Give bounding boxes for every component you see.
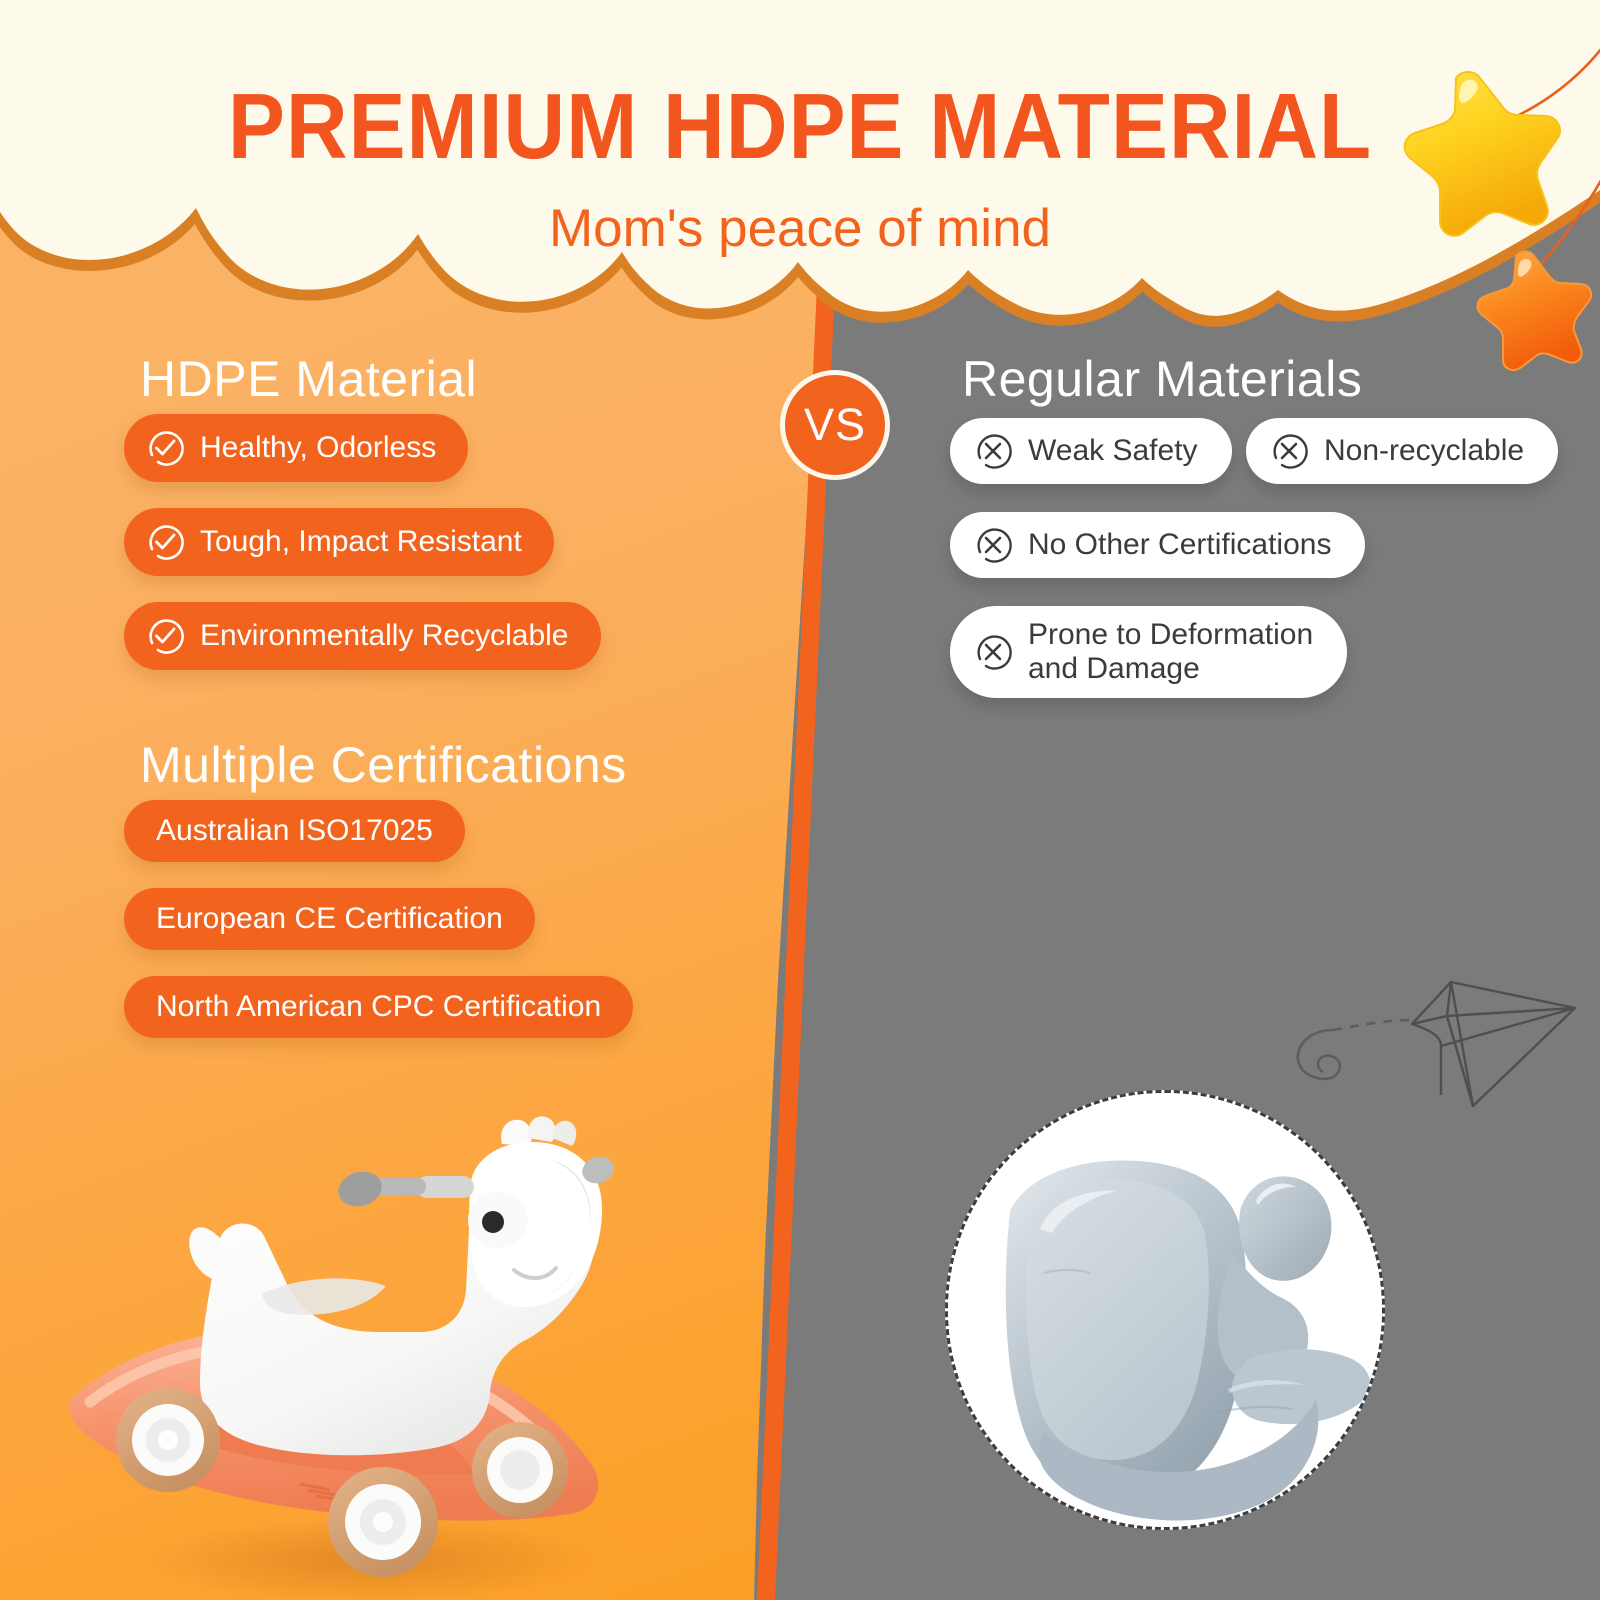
check-circle-icon [144, 521, 186, 563]
wheel-rear-left [328, 1467, 438, 1577]
drawback-label: Prone to Deformation and Damage [1028, 618, 1313, 686]
infographic-canvas: PREMIUM HDPE MATERIAL Mom's peace of min… [0, 0, 1600, 1600]
drawback-label: Weak Safety [1028, 434, 1198, 468]
x-circle-icon [972, 524, 1014, 566]
hanging-stars-decoration [1380, 40, 1600, 380]
vs-badge: VS [780, 370, 890, 480]
vs-badge-label: VS [804, 399, 866, 451]
paper-plane-doodle-icon [1255, 920, 1585, 1110]
drawback-pill[interactable]: Non-recyclable [1246, 418, 1558, 484]
certification-pill[interactable]: North American CPC Certification [124, 976, 633, 1038]
certification-list: Australian ISO17025 European CE Certific… [0, 800, 760, 1064]
dashed-circle-frame [945, 1090, 1385, 1530]
certification-pill[interactable]: European CE Certification [124, 888, 535, 950]
regular-product-image [945, 1090, 1385, 1530]
drawback-pill[interactable]: No Other Certifications [950, 512, 1365, 578]
header-cloud [0, 0, 1600, 400]
drawback-label: Non-recyclable [1324, 434, 1524, 468]
hdpe-feature-list: Healthy, Odorless Tough, Impact Resistan… [0, 414, 760, 696]
gray-plastic-toy-closeup [948, 1093, 1385, 1530]
white-rocking-horse-ride-on-toy [50, 1070, 650, 1600]
certification-label: Australian ISO17025 [156, 814, 433, 848]
drawback-pill[interactable]: Prone to Deformation and Damage [950, 606, 1347, 698]
x-circle-icon [972, 430, 1014, 472]
drawback-pill[interactable]: Weak Safety [950, 418, 1232, 484]
wheel-rear-right [472, 1422, 568, 1518]
star-orange-icon [1478, 252, 1592, 371]
hdpe-heading: HDPE Material [140, 350, 760, 408]
wheel-front-left [116, 1388, 220, 1492]
certification-label: European CE Certification [156, 902, 503, 936]
check-circle-icon [144, 427, 186, 469]
x-circle-icon [972, 631, 1014, 673]
check-circle-icon [144, 615, 186, 657]
hdpe-column: HDPE Material Healthy, Odorless Tough, I… [0, 350, 760, 1064]
drawback-label: No Other Certifications [1028, 528, 1331, 562]
feature-label: Environmentally Recyclable [200, 619, 569, 653]
feature-pill[interactable]: Healthy, Odorless [124, 414, 468, 482]
certifications-heading: Multiple Certifications [140, 736, 760, 794]
feature-label: Healthy, Odorless [200, 431, 436, 465]
star-yellow-icon [1405, 72, 1560, 236]
feature-pill[interactable]: Environmentally Recyclable [124, 602, 601, 670]
feature-pill[interactable]: Tough, Impact Resistant [124, 508, 554, 576]
certification-pill[interactable]: Australian ISO17025 [124, 800, 465, 862]
feature-label: Tough, Impact Resistant [200, 525, 522, 559]
regular-materials-column: Regular Materials Weak Safety Non-recycl… [940, 350, 1580, 726]
certification-label: North American CPC Certification [156, 990, 601, 1024]
drawback-list: Weak Safety Non-recyclable No Other Cert… [940, 418, 1580, 726]
hdpe-product-image [50, 1070, 650, 1600]
x-circle-icon [1268, 430, 1310, 472]
